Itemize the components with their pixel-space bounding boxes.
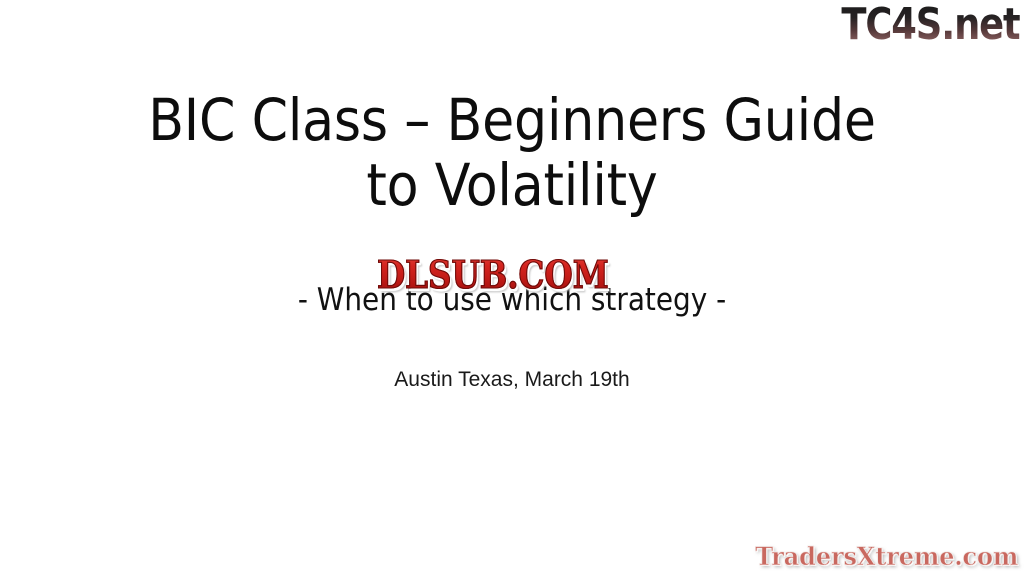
slide-title-line-1: BIC Class – Beginners Guide <box>0 88 1024 153</box>
watermark-tc4s-net: TC4S.net <box>842 2 1020 48</box>
watermark-dlsub-com: DLSUB.COM DLSUB.COM <box>377 256 609 294</box>
slide-title-line-2: to Volatility <box>0 153 1024 218</box>
presentation-slide: TC4S.net TC4S.net BIC Class – Beginners … <box>0 0 1024 576</box>
slide-event-info: Austin Texas, March 19th <box>0 367 1024 392</box>
watermark-tradersxtreme-com: TradersXtreme.com <box>755 543 1018 571</box>
watermark-dlsub-com-face: DLSUB.COM <box>377 256 609 294</box>
slide-title: BIC Class – Beginners Guide to Volatilit… <box>0 88 1024 218</box>
slide-event-line-1: Austin Texas, March 19th <box>0 367 1024 392</box>
